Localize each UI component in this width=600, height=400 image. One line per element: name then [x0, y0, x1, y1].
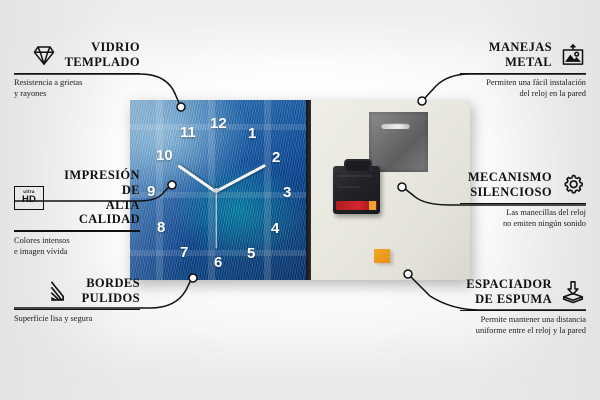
- clock-hand-pivot: [214, 188, 219, 193]
- metal-hanger-plate: [369, 112, 428, 172]
- gear-icon: [560, 172, 586, 198]
- mechanism-hanging-tab: [344, 159, 372, 171]
- clock-hand-second: [215, 191, 216, 249]
- ultra-hd-icon: ultra HD: [14, 186, 44, 210]
- callout-header: ultra HD IMPRESIÓN DEALTA CALIDAD: [14, 168, 140, 227]
- arrow-down-foam-pad-icon: [560, 279, 586, 305]
- callout-header: MECANISMOSILENCIOSO: [460, 170, 586, 200]
- callout-impresion-alta-calidad: ultra HD IMPRESIÓN DEALTA CALIDAD Colore…: [14, 168, 140, 257]
- quartz-mechanism-box: [333, 166, 380, 214]
- polished-edges-icon: [48, 278, 74, 304]
- callout-description: Superficie lisa y segura: [14, 313, 140, 324]
- callout-description: Permite mantener una distanciauniforme e…: [460, 314, 586, 337]
- callout-header: BORDESPULIDOS: [14, 276, 140, 306]
- callout-title: IMPRESIÓN DEALTA CALIDAD: [52, 168, 140, 227]
- mechanism-detail-line: [338, 175, 372, 177]
- callout-title: MECANISMOSILENCIOSO: [468, 170, 552, 200]
- callout-title: MANEJASMETAL: [489, 40, 552, 70]
- callout-vidrio-templado: VIDRIOTEMPLADO Resistencia a grietasy ra…: [14, 40, 140, 100]
- callout-description: Colores intensose imagen vívida: [14, 235, 140, 258]
- infographic-stage: 12 1 2 3 4 5 6 7 8 9 10 11: [0, 0, 600, 400]
- callout-title: VIDRIOTEMPLADO: [65, 40, 140, 70]
- clock-numeral-10: 10: [156, 148, 173, 163]
- clock-numeral-2: 2: [272, 150, 280, 165]
- clock-back-panel: [311, 100, 470, 280]
- clock-numeral-8: 8: [157, 220, 165, 235]
- callout-rule: [460, 310, 586, 312]
- callout-espaciador-espuma: ESPACIADORDE ESPUMA Permite mantener una…: [460, 277, 586, 337]
- clock-numeral-5: 5: [247, 246, 255, 261]
- print-grid-line: [130, 192, 306, 198]
- mechanism-orange-chip: [369, 201, 376, 210]
- callout-title: BORDESPULIDOS: [82, 276, 140, 306]
- clock-numeral-7: 7: [180, 245, 188, 260]
- callout-mecanismo-silencioso: MECANISMOSILENCIOSO Las manecillas del r…: [460, 170, 586, 230]
- clock-front-face: 12 1 2 3 4 5 6 7 8 9 10 11: [130, 100, 306, 280]
- mechanism-detail-line: [338, 186, 360, 188]
- foam-spacer-square: [374, 249, 390, 263]
- clock-numeral-11: 11: [180, 125, 196, 140]
- callout-rule: [14, 73, 140, 75]
- callout-description: Permiten una fácil instalacióndel reloj …: [460, 77, 586, 100]
- callout-description: Resistencia a grietasy rayones: [14, 77, 140, 100]
- callout-rule: [14, 230, 140, 232]
- clock-numeral-9: 9: [147, 184, 155, 199]
- clock-numeral-3: 3: [283, 185, 291, 200]
- clock-numeral-4: 4: [271, 221, 279, 236]
- callout-header: VIDRIOTEMPLADO: [14, 40, 140, 70]
- callout-header: ESPACIADORDE ESPUMA: [460, 277, 586, 307]
- picture-frame-hanger-icon: [560, 42, 586, 68]
- ultra-hd-icon-large-text: HD: [22, 195, 36, 205]
- background-vignette-bottom: [0, 330, 600, 400]
- clock-numeral-12: 12: [210, 116, 227, 131]
- clock-numeral-6: 6: [214, 255, 222, 270]
- hanger-plate-slot: [381, 123, 410, 129]
- diamond-icon: [31, 42, 57, 68]
- callout-rule: [460, 203, 586, 205]
- callout-rule: [460, 73, 586, 75]
- product-image: 12 1 2 3 4 5 6 7 8 9 10 11: [130, 100, 470, 280]
- callout-description: Las manecillas del relojno emiten ningún…: [460, 207, 586, 230]
- clock-numeral-1: 1: [248, 126, 256, 141]
- callout-title: ESPACIADORDE ESPUMA: [466, 277, 552, 307]
- callout-rule: [14, 309, 140, 311]
- callout-bordes-pulidos: BORDESPULIDOS Superficie lisa y segura: [14, 276, 140, 324]
- callout-manejas-metal: MANEJASMETAL Permiten una fácil instalac…: [460, 40, 586, 100]
- callout-header: MANEJASMETAL: [460, 40, 586, 70]
